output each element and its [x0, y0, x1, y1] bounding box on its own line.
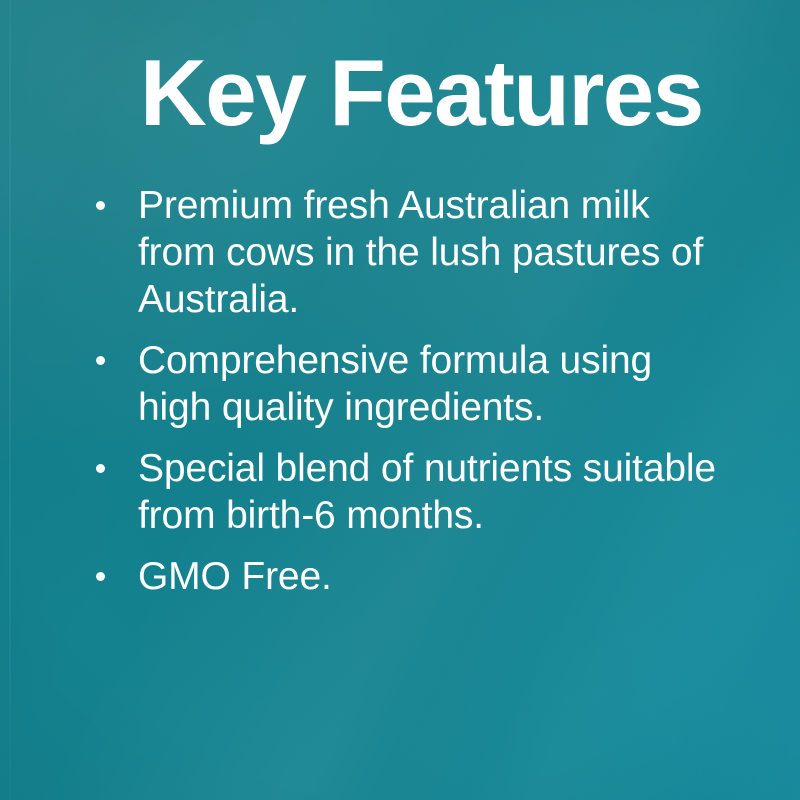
bullet-point-icon	[96, 356, 105, 365]
list-item-text: GMO Free.	[138, 553, 716, 600]
bullet-point-icon	[96, 464, 105, 473]
key-features-slide: Key Features Premium fresh Australian mi…	[0, 0, 800, 800]
list-item: GMO Free.	[92, 553, 716, 600]
list-item-text: Premium fresh Australian milk from cows …	[138, 182, 716, 323]
list-item: Premium fresh Australian milk from cows …	[92, 182, 716, 323]
bullet-point-icon	[96, 572, 105, 581]
list-item: Comprehensive formula using high quality…	[92, 337, 716, 431]
bullet-point-icon	[96, 201, 105, 210]
list-item-text: Special blend of nutrients suitable from…	[138, 445, 716, 539]
slide-content: Key Features Premium fresh Australian mi…	[0, 0, 800, 800]
list-item-text: Comprehensive formula using high quality…	[138, 337, 716, 431]
list-item: Special blend of nutrients suitable from…	[92, 445, 716, 539]
key-features-list: Premium fresh Australian milk from cows …	[92, 182, 716, 600]
page-title: Key Features	[140, 46, 703, 140]
